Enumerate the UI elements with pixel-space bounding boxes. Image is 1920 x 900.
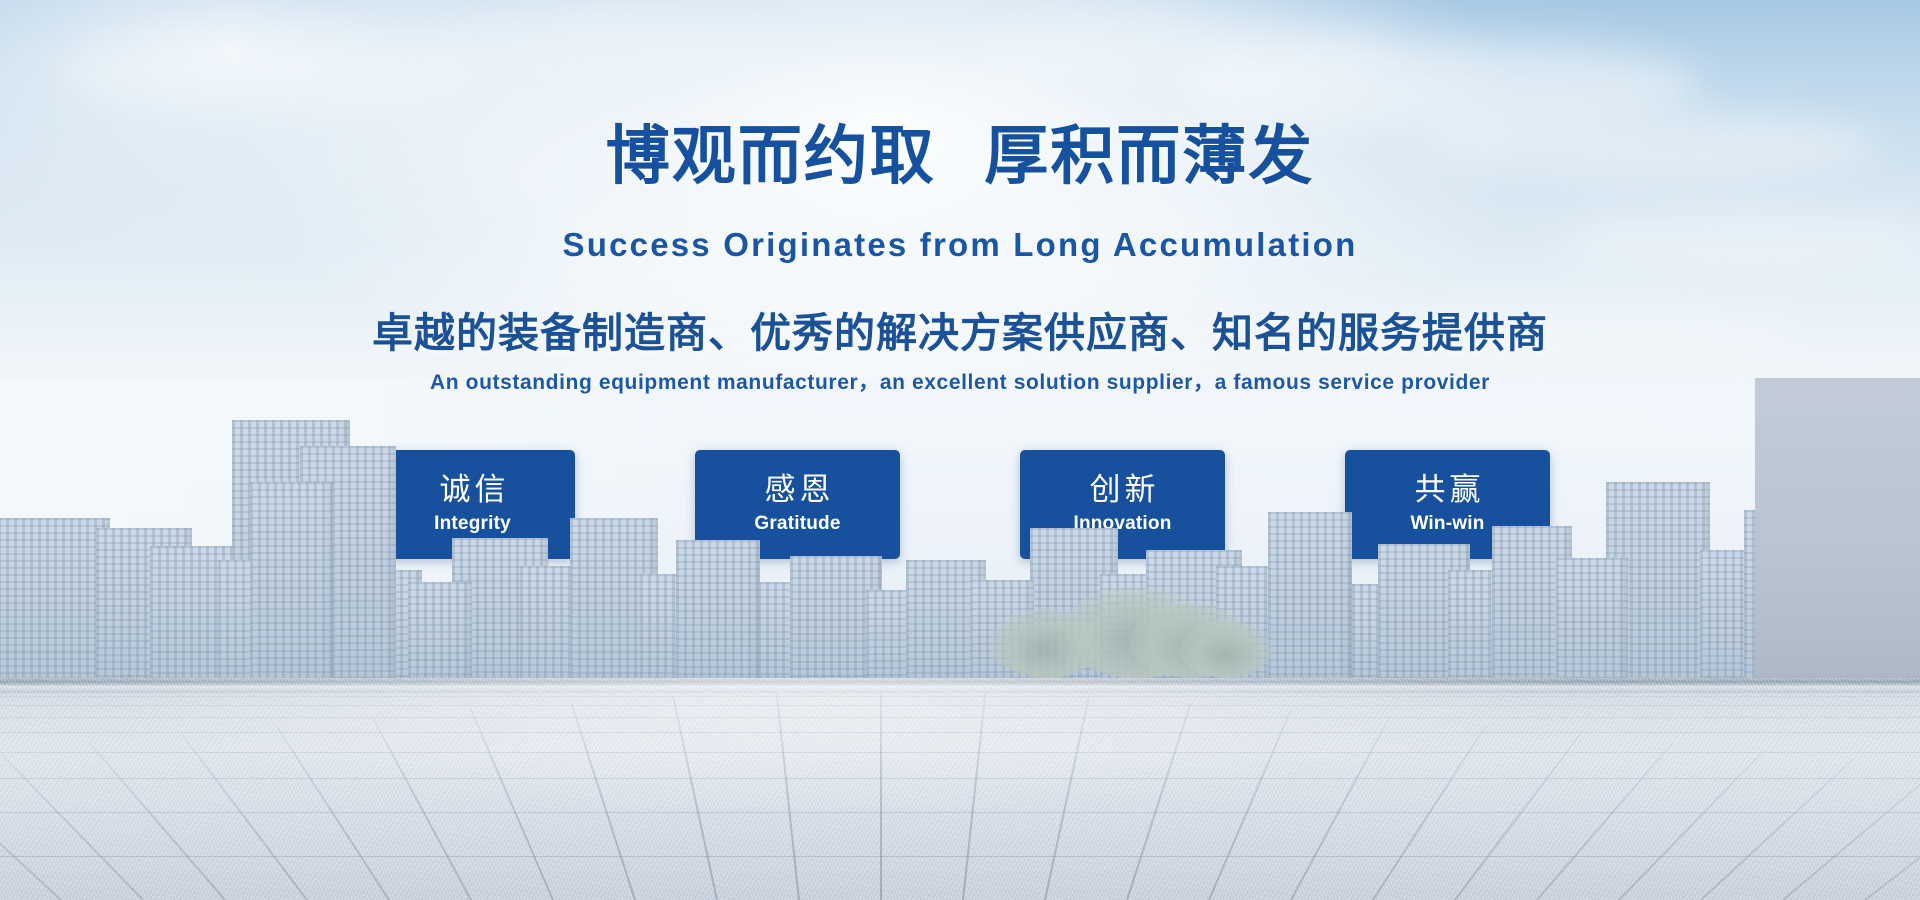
value-label-chinese: 创新 xyxy=(1086,474,1160,507)
value-label-english: Win-win xyxy=(1410,512,1484,537)
building-windows xyxy=(676,540,760,678)
building-windows xyxy=(408,582,472,678)
concrete-wall xyxy=(1755,378,1920,678)
building-windows xyxy=(1556,558,1628,678)
building-windows xyxy=(1268,512,1352,678)
building xyxy=(1268,512,1352,678)
building xyxy=(408,582,472,678)
headline-english: Success Originates from Long Accumulatio… xyxy=(0,228,1920,261)
value-label-english: Integrity xyxy=(434,512,511,537)
headline-chinese: 博观而约取 厚积而薄发 xyxy=(0,125,1920,189)
building xyxy=(676,540,760,678)
value-label-chinese: 感恩 xyxy=(761,474,835,507)
building-windows xyxy=(250,482,334,678)
value-label-english: Gratitude xyxy=(754,512,840,537)
hero-banner: 博观而约取 厚积而薄发 Success Originates from Long… xyxy=(0,0,1920,900)
subheadline-chinese: 卓越的装备制造商、优秀的解决方案供应商、知名的服务提供商 xyxy=(0,313,1920,354)
tree xyxy=(1180,620,1272,678)
value-label-chinese: 共赢 xyxy=(1411,474,1485,507)
building-windows xyxy=(0,518,110,678)
tree xyxy=(990,608,1100,678)
value-label-chinese: 诚信 xyxy=(436,474,510,507)
building xyxy=(1556,558,1628,678)
subheadline-english: An outstanding equipment manufacturer，an… xyxy=(0,372,1920,393)
building xyxy=(250,482,334,678)
building xyxy=(0,518,110,678)
